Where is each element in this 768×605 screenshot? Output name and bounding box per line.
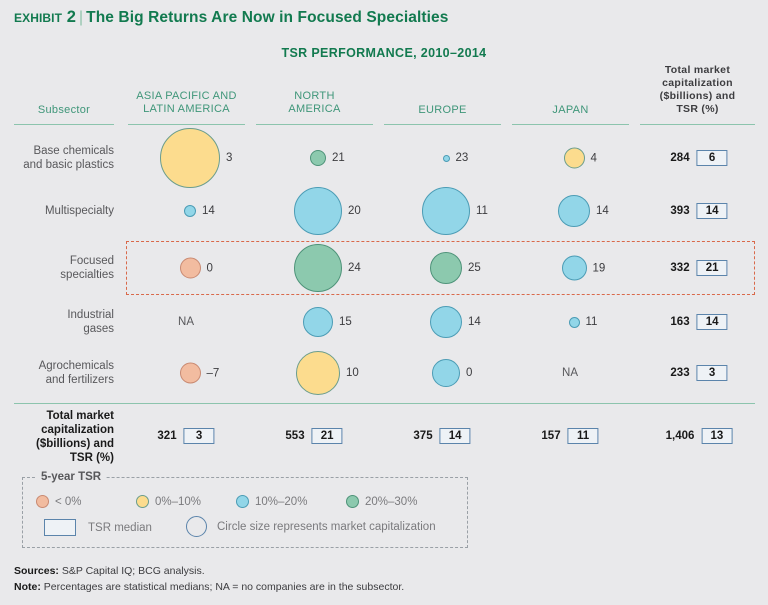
bubble-blue xyxy=(562,256,587,281)
bubble-cell-apac_latam-4: –7 xyxy=(180,363,220,384)
legend-size-label: Circle size represents market capitaliza… xyxy=(217,521,436,533)
legend-title: 5-year TSR xyxy=(36,471,106,483)
row-total-tsr: 3 xyxy=(697,365,728,381)
row-label-0: Base chemicalsand basic plastics xyxy=(0,144,114,172)
bubble-red xyxy=(180,363,201,384)
note-text: Percentages are statistical medians; NA … xyxy=(41,581,404,593)
row-label-line: specialties xyxy=(0,268,114,282)
row-label-2: Focusedspecialties xyxy=(0,254,114,282)
bubble-value: 15 xyxy=(339,316,352,328)
column-header-total: Total marketcapitalization($billions) an… xyxy=(640,64,755,116)
bubble-cell-europe-1: 11 xyxy=(422,187,488,235)
row-total-cap: 163 xyxy=(670,316,689,328)
column-total-tsr: 11 xyxy=(568,428,599,444)
column-total-apac_latam: 3213 xyxy=(157,428,214,444)
legend-median-label: TSR median xyxy=(88,522,152,534)
row-label-line: Industrial xyxy=(0,308,114,322)
bubble-value: 21 xyxy=(332,152,345,164)
totals-row-label-line: ($billions) and xyxy=(0,437,114,451)
row-label-line: gases xyxy=(0,322,114,336)
row-label-4: Agrochemicalsand fertilizers xyxy=(0,359,114,387)
header-rule-europe xyxy=(384,124,501,125)
bubble-cell-europe-4: 0 xyxy=(432,359,472,387)
bubble-blue xyxy=(558,195,590,227)
bubble-cell-europe-2: 25 xyxy=(430,252,481,284)
row-label-3: Industrialgases xyxy=(0,308,114,336)
row-label-line: and fertilizers xyxy=(0,373,114,387)
column-total-tsr: 13 xyxy=(701,428,732,444)
legend-swatch-red-icon xyxy=(36,495,49,508)
bubble-cell-japan-0: 4 xyxy=(564,148,597,169)
row-total-cap: 393 xyxy=(670,205,689,217)
bubble-value: 14 xyxy=(596,205,609,217)
row-label-line: Base chemicals xyxy=(0,144,114,158)
sources-label: Sources: xyxy=(14,565,59,577)
title-text: The Big Returns Are Now in Focused Speci… xyxy=(86,9,448,26)
na-value: NA xyxy=(562,367,578,379)
legend-size-item: Circle size represents market capitaliza… xyxy=(186,516,436,537)
bubble-cell-apac_latam-2: 0 xyxy=(180,258,213,279)
legend-swatch-yellow-icon xyxy=(136,495,149,508)
bubble-value: 14 xyxy=(202,205,215,217)
row-total-cap: 284 xyxy=(670,152,689,164)
bubble-value: 3 xyxy=(226,152,232,164)
exhibit-label: Exhibit 2 xyxy=(14,8,76,26)
legend-swatch-item-blue: 10%–20% xyxy=(236,495,307,508)
note-label: Note: xyxy=(14,581,41,593)
row-total-3: 16314 xyxy=(670,314,727,330)
column-total-cap: 553 xyxy=(285,430,304,442)
legend-swatch-label: < 0% xyxy=(55,496,82,508)
column-total-cap: 375 xyxy=(413,430,432,442)
tsr-median-box-icon xyxy=(44,519,76,536)
totals-divider xyxy=(14,403,755,404)
header-rule-north_america xyxy=(256,124,373,125)
header-rule-total xyxy=(640,124,755,125)
column-total-total: 1,40613 xyxy=(666,428,733,444)
row-total-tsr: 14 xyxy=(697,314,728,330)
legend-swatch-item-red: < 0% xyxy=(36,495,82,508)
header-rule-subsector xyxy=(14,124,114,125)
bubble-cell-north_america-3: 15 xyxy=(303,307,352,337)
bubble-blue xyxy=(184,205,196,217)
column-total-cap: 1,406 xyxy=(666,430,695,442)
bubble-cell-north_america-2: 24 xyxy=(294,244,361,292)
row-label-line: Agrochemicals xyxy=(0,359,114,373)
column-header-subsector: Subsector xyxy=(14,104,114,117)
bubble-value: –7 xyxy=(207,367,220,379)
totals-row-label-line: TSR (%) xyxy=(0,451,114,465)
page-title: Exhibit 2|The Big Returns Are Now in Foc… xyxy=(14,8,448,27)
column-header-total-line: ($billions) and xyxy=(640,90,755,103)
bubble-cell-apac_latam-1: 14 xyxy=(184,205,215,217)
bubble-green xyxy=(294,244,342,292)
bubble-value: 23 xyxy=(456,152,469,164)
bubble-value: 4 xyxy=(591,152,597,164)
bubble-cell-apac_latam-0: 3 xyxy=(160,128,232,188)
bubble-value: 10 xyxy=(346,367,359,379)
bubble-blue xyxy=(432,359,460,387)
column-total-cap: 157 xyxy=(541,430,560,442)
bubble-cell-europe-0: 23 xyxy=(443,152,469,164)
bubble-yellow xyxy=(296,351,340,395)
bubble-cell-japan-4: NA xyxy=(562,367,578,379)
header-rule-apac_latam xyxy=(128,124,245,125)
bubble-blue xyxy=(294,187,342,235)
row-total-2: 33221 xyxy=(670,260,727,276)
bubble-value: 20 xyxy=(348,205,361,217)
note-line: Note: Percentages are statistical median… xyxy=(14,580,404,594)
column-header-north_america: NORTHAMERICA xyxy=(256,90,373,116)
legend-container xyxy=(22,477,468,548)
legend-swatch-blue-icon xyxy=(236,495,249,508)
row-label-1: Multispecialty xyxy=(0,204,114,218)
row-total-cap: 332 xyxy=(670,262,689,274)
bubble-cell-japan-3: 11 xyxy=(569,316,598,328)
bubble-value: 0 xyxy=(207,262,213,274)
column-header-apac_latam: ASIA PACIFIC ANDLATIN AMERICA xyxy=(128,90,245,116)
legend-swatch-item-yellow: 0%–10% xyxy=(136,495,201,508)
na-value: NA xyxy=(178,316,194,328)
header-rule-japan xyxy=(512,124,629,125)
column-total-tsr: 14 xyxy=(440,428,471,444)
bubble-cell-north_america-4: 10 xyxy=(296,351,359,395)
bubble-value: 14 xyxy=(468,316,481,328)
legend-swatch-green-icon xyxy=(346,495,359,508)
bubble-blue xyxy=(569,317,580,328)
column-total-cap: 321 xyxy=(157,430,176,442)
legend-swatch-label: 0%–10% xyxy=(155,496,201,508)
column-header-japan: JAPAN xyxy=(512,104,629,117)
legend-swatch-label: 10%–20% xyxy=(255,496,307,508)
row-label-line: Focused xyxy=(0,254,114,268)
bubble-cell-japan-1: 14 xyxy=(558,195,609,227)
column-total-tsr: 3 xyxy=(184,428,215,444)
column-header-total-line: TSR (%) xyxy=(640,103,755,116)
bubble-value: 24 xyxy=(348,262,361,274)
bubble-green xyxy=(430,252,462,284)
column-header-total-line: capitalization xyxy=(640,77,755,90)
bubble-red xyxy=(180,258,201,279)
row-total-4: 2333 xyxy=(670,365,727,381)
chart-subtitle: TSR PERFORMANCE, 2010–2014 xyxy=(0,46,768,60)
bubble-yellow xyxy=(160,128,220,188)
bubble-value: 19 xyxy=(593,262,606,274)
totals-row-label: Total marketcapitalization($billions) an… xyxy=(0,409,114,465)
bubble-cell-north_america-0: 21 xyxy=(310,150,345,166)
bubble-value: 25 xyxy=(468,262,481,274)
bubble-blue xyxy=(303,307,333,337)
bubble-blue xyxy=(443,155,450,162)
bubble-blue xyxy=(422,187,470,235)
exhibit-chart: Exhibit 2|The Big Returns Are Now in Foc… xyxy=(0,0,768,605)
market-cap-circle-icon xyxy=(186,516,207,537)
bubble-value: 0 xyxy=(466,367,472,379)
column-total-tsr: 21 xyxy=(312,428,343,444)
totals-row-label-line: Total market xyxy=(0,409,114,423)
legend-median-item: TSR median xyxy=(44,519,152,536)
bubble-blue xyxy=(430,306,462,338)
legend-swatch-item-green: 20%–30% xyxy=(346,495,417,508)
legend-swatch-label: 20%–30% xyxy=(365,496,417,508)
bubble-cell-north_america-1: 20 xyxy=(294,187,361,235)
row-label-line: and basic plastics xyxy=(0,158,114,172)
row-total-tsr: 6 xyxy=(697,150,728,166)
column-total-japan: 15711 xyxy=(541,428,598,444)
bubble-green xyxy=(310,150,326,166)
row-total-tsr: 14 xyxy=(697,203,728,219)
bubble-value: 11 xyxy=(586,316,598,328)
column-header-europe: EUROPE xyxy=(384,104,501,117)
bubble-cell-japan-2: 19 xyxy=(562,256,606,281)
row-label-line: Multispecialty xyxy=(0,204,114,218)
row-total-tsr: 21 xyxy=(697,260,728,276)
title-separator: | xyxy=(76,9,86,26)
column-total-europe: 37514 xyxy=(413,428,470,444)
sources-text: S&P Capital IQ; BCG analysis. xyxy=(59,565,205,577)
row-total-0: 2846 xyxy=(670,150,727,166)
row-total-1: 39314 xyxy=(670,203,727,219)
column-total-north_america: 55321 xyxy=(285,428,342,444)
column-header-total-line: Total market xyxy=(640,64,755,77)
row-total-cap: 233 xyxy=(670,367,689,379)
bubble-yellow xyxy=(564,148,585,169)
bubble-cell-apac_latam-3: NA xyxy=(178,316,194,328)
bubble-value: 11 xyxy=(476,205,488,217)
totals-row-label-line: capitalization xyxy=(0,423,114,437)
sources-note: Sources: S&P Capital IQ; BCG analysis. xyxy=(14,564,205,578)
bubble-cell-europe-3: 14 xyxy=(430,306,481,338)
